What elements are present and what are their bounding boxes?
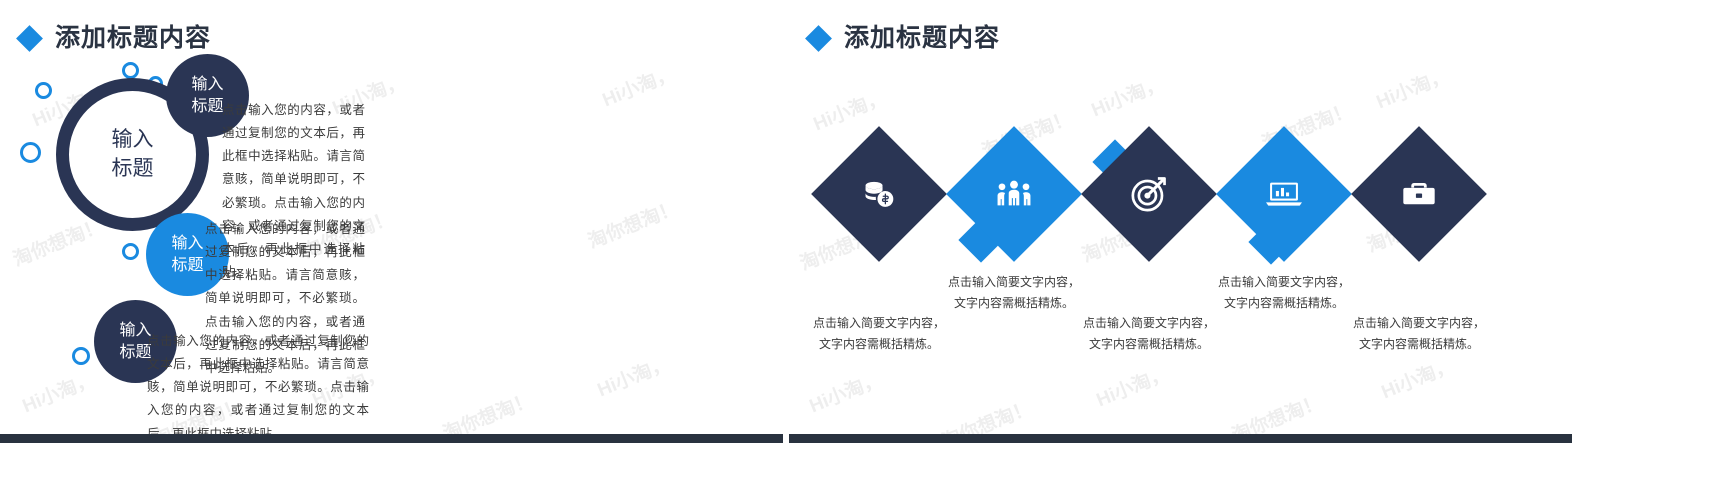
decorative-ring <box>35 82 52 99</box>
decorative-ring <box>72 347 90 365</box>
feature-caption-5: 点击输入简要文字内容，文字内容需概括精炼。 <box>1353 313 1485 355</box>
decorative-ring <box>122 243 139 260</box>
watermark: Hi小淘， <box>1372 61 1453 115</box>
body-paragraph-3: 点击输入您的内容，或者通过复制您的文本后，再此框中选择粘贴。请言简意赅，简单说明… <box>147 330 369 443</box>
center-circle-label: 输入 标题 <box>112 126 154 183</box>
laptop-chart-icon <box>1265 178 1303 210</box>
decorative-ring <box>20 142 41 163</box>
watermark: Hi小淘， <box>18 365 99 419</box>
watermark: Hi小淘， <box>593 349 674 403</box>
diamond-marker-icon <box>805 25 832 52</box>
slide-right: 添加标题内容 Hi小淘， Hi小淘， Hi小淘， 淘你想淘！ 淘你想淘！ 淘你想… <box>789 0 1572 443</box>
feature-diamond-3[interactable] <box>1081 126 1217 262</box>
slide-right-bottom-bar <box>789 434 1572 443</box>
slide-left-bottom-bar <box>0 434 783 443</box>
coins-icon <box>862 177 896 211</box>
feature-caption-4: 点击输入简要文字内容，文字内容需概括精炼。 <box>1218 272 1350 314</box>
feature-caption-1: 点击输入简要文字内容，文字内容需概括精炼。 <box>813 313 945 355</box>
watermark: 淘你想淘！ <box>583 193 681 254</box>
briefcase-icon <box>1401 178 1437 210</box>
watermark: Hi小淘， <box>598 59 679 113</box>
feature-diamond-5[interactable] <box>1351 126 1487 262</box>
slide-deck: 添加标题内容 Hi小淘， Hi小淘， Hi小淘， 淘你想淘！ 淘你想淘！ 淘你想… <box>0 0 1720 490</box>
bubble-node-1-label: 输入 标题 <box>191 74 223 117</box>
slide-left-header: 添加标题内容 <box>20 26 211 51</box>
page-title: 添加标题内容 <box>55 26 211 51</box>
slide-left: 添加标题内容 Hi小淘， Hi小淘， Hi小淘， 淘你想淘！ 淘你想淘！ 淘你想… <box>0 0 783 443</box>
watermark: Hi小淘， <box>1092 359 1173 413</box>
diamond-marker-icon <box>16 25 43 52</box>
bubble-node-2-label: 输入 标题 <box>171 233 203 276</box>
decorative-ring <box>122 62 139 79</box>
people-group-icon <box>996 177 1032 211</box>
feature-caption-3: 点击输入简要文字内容，文字内容需概括精炼。 <box>1083 313 1215 355</box>
watermark: Hi小淘， <box>805 365 886 419</box>
feature-caption-2: 点击输入简要文字内容，文字内容需概括精炼。 <box>948 272 1080 314</box>
feature-diamond-4[interactable] <box>1216 126 1352 262</box>
watermark: Hi小淘， <box>1377 351 1458 405</box>
watermark: 淘你想淘！ <box>8 211 106 272</box>
watermark: Hi小淘， <box>1087 69 1168 123</box>
slide-right-header: 添加标题内容 <box>809 26 1000 51</box>
feature-diamond-1[interactable] <box>811 126 947 262</box>
page-title: 添加标题内容 <box>844 26 1000 51</box>
target-dart-icon <box>1130 175 1168 213</box>
